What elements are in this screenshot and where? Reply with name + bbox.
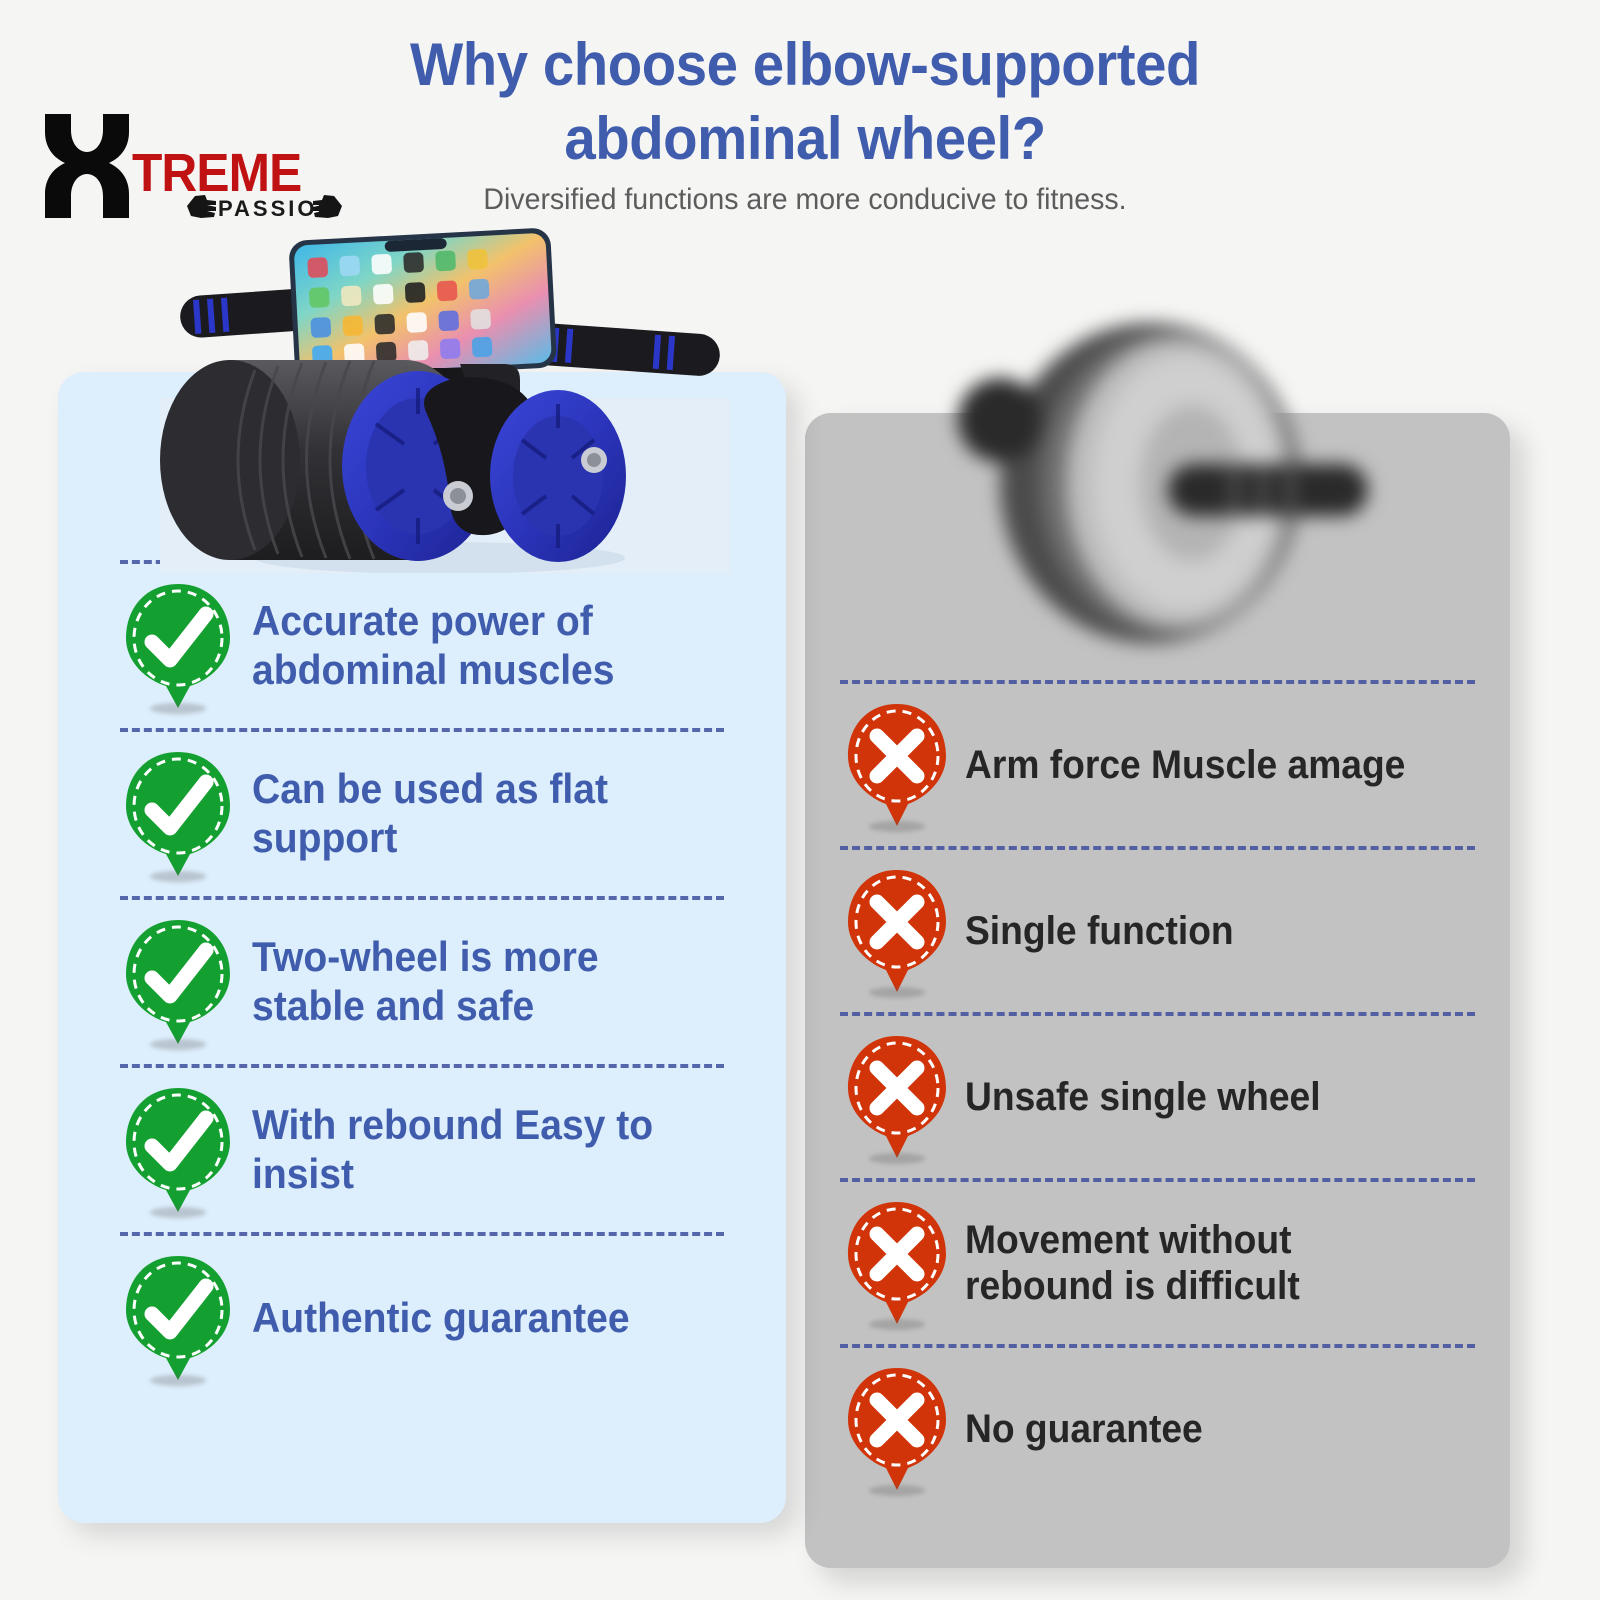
list-item-label: Arm force Muscle amage xyxy=(965,742,1440,788)
fist-left-icon xyxy=(185,192,219,220)
brand-logo: TREME PASSION xyxy=(22,112,362,224)
dual-wheel-ab-roller-with-phone-image xyxy=(160,228,730,573)
check-pin-icon xyxy=(120,748,236,880)
list-item-label: Authentic guarantee xyxy=(252,1294,711,1343)
list-divider xyxy=(840,1012,1475,1016)
list-item-label: Unsafe single wheel xyxy=(965,1074,1440,1120)
list-divider xyxy=(120,896,724,900)
pin-shadow xyxy=(869,1319,925,1330)
page-header: Why choose elbow-supported abdominal whe… xyxy=(0,0,1600,240)
pin-shadow xyxy=(150,1375,206,1386)
list-item-label: Movement without rebound is difficult xyxy=(965,1217,1440,1310)
list-divider xyxy=(120,728,724,732)
list-item-label: Accurate power of abdominal muscles xyxy=(252,597,711,694)
feature-list-bad: Arm force Muscle amage Single function U… xyxy=(805,680,1510,1510)
list-divider xyxy=(120,1232,724,1236)
pin-shadow xyxy=(150,1039,206,1050)
feature-list-good: Accurate power of abdominal muscles Can … xyxy=(58,560,786,1400)
x-bone-logo-icon xyxy=(27,112,147,220)
pin-shadow xyxy=(869,1485,925,1496)
check-pin-icon xyxy=(120,580,236,712)
pin-shadow xyxy=(150,703,206,714)
list-item[interactable]: Single function xyxy=(805,850,1510,1012)
pin-shadow xyxy=(869,821,925,832)
list-item[interactable]: Authentic guarantee xyxy=(58,1236,786,1400)
list-item[interactable]: Accurate power of abdominal muscles xyxy=(58,564,786,728)
cross-pin-icon xyxy=(841,1364,953,1494)
pin-shadow xyxy=(869,1153,925,1164)
list-divider xyxy=(840,846,1475,850)
page-title: Why choose elbow-supported abdominal whe… xyxy=(302,28,1308,177)
list-item-label: Single function xyxy=(965,908,1440,954)
page-subtitle: Diversified functions are more conducive… xyxy=(297,183,1314,217)
list-divider xyxy=(840,1178,1475,1182)
list-item[interactable]: Arm force Muscle amage xyxy=(805,684,1510,846)
pin-shadow xyxy=(150,1207,206,1218)
list-item[interactable]: Can be used as flat support xyxy=(58,732,786,896)
cross-pin-icon xyxy=(841,1032,953,1162)
list-item[interactable]: With rebound Easy to insist xyxy=(58,1068,786,1232)
check-pin-icon xyxy=(120,1252,236,1384)
list-item[interactable]: Unsafe single wheel xyxy=(805,1016,1510,1178)
list-divider xyxy=(120,1064,724,1068)
pin-shadow xyxy=(869,987,925,998)
list-item-label: Two-wheel is more stable and safe xyxy=(252,933,711,1030)
list-item[interactable]: Movement without rebound is difficult xyxy=(805,1182,1510,1344)
cross-pin-icon xyxy=(841,1198,953,1328)
list-item[interactable]: No guarantee xyxy=(805,1348,1510,1510)
list-item[interactable]: Two-wheel is more stable and safe xyxy=(58,900,786,1064)
list-item-label: No guarantee xyxy=(965,1406,1440,1452)
cross-pin-icon xyxy=(841,700,953,830)
check-pin-icon xyxy=(120,916,236,1048)
pin-shadow xyxy=(150,871,206,882)
list-item-label: With rebound Easy to insist xyxy=(252,1101,711,1198)
fist-right-icon xyxy=(310,192,344,220)
list-divider xyxy=(840,1344,1475,1348)
cross-pin-icon xyxy=(841,866,953,996)
check-pin-icon xyxy=(120,1084,236,1216)
single-wheel-ab-roller-image xyxy=(900,288,1420,688)
list-item-label: Can be used as flat support xyxy=(252,765,711,862)
